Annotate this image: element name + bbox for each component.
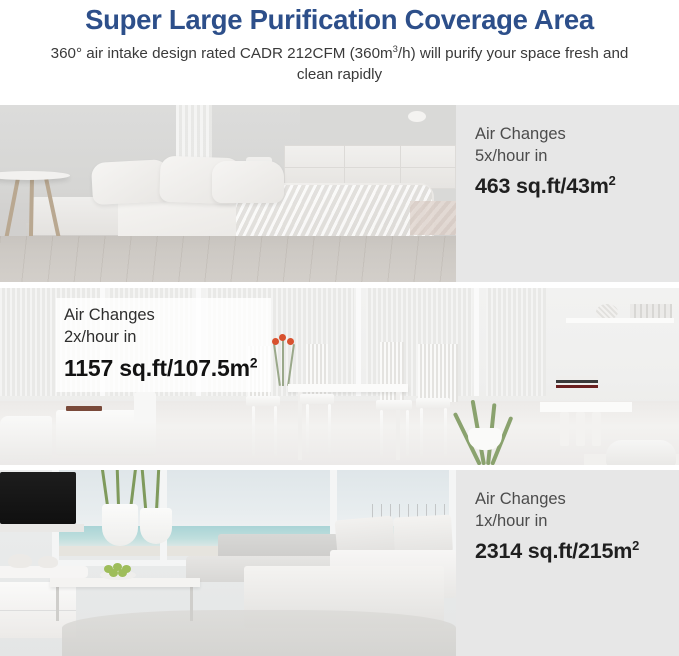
dining-chair-back bbox=[418, 344, 440, 402]
area-rug bbox=[62, 610, 456, 656]
air-changes-label: Air Changes bbox=[64, 304, 257, 326]
chair-leg bbox=[420, 408, 423, 456]
cabinet-divider bbox=[0, 610, 76, 611]
air-changes-label: Air Changes bbox=[475, 488, 679, 510]
scene-bedroom bbox=[0, 105, 456, 282]
flower-stem bbox=[282, 340, 284, 386]
dining-chair-back bbox=[380, 342, 404, 406]
coverage-panel-bedroom: Air Changes 5x/hour in 463 sq.ft/43m2 bbox=[0, 105, 679, 282]
chair-leg bbox=[274, 406, 277, 456]
window-mullion bbox=[474, 288, 479, 396]
fruit bbox=[118, 569, 127, 577]
coffee-table-leg bbox=[190, 587, 193, 621]
decor-bowl bbox=[38, 556, 58, 568]
chair-leg bbox=[380, 410, 383, 456]
bedroom-lamp bbox=[408, 111, 426, 122]
decor-books bbox=[556, 376, 598, 388]
coverage-area-value: 1157 sq.ft/107.5m2 bbox=[64, 355, 257, 382]
stool-leg bbox=[560, 412, 569, 446]
chair-leg bbox=[406, 410, 409, 456]
flower bbox=[287, 338, 294, 345]
bedroom-rug bbox=[410, 201, 456, 235]
dining-chair-seat bbox=[376, 400, 412, 410]
bedroom-floor-planks bbox=[0, 236, 456, 282]
chair-leg bbox=[306, 404, 309, 454]
television bbox=[0, 472, 76, 524]
decor-bowl bbox=[8, 554, 32, 568]
air-changes-label: Air Changes bbox=[475, 123, 679, 145]
stool-leg bbox=[576, 412, 585, 446]
page-subtitle: 360° air intake design rated CADR 212CFM… bbox=[16, 43, 664, 86]
coverage-area-superscript: 2 bbox=[250, 355, 257, 370]
dining-chair-seat bbox=[300, 394, 334, 404]
coverage-panel-dining-living: Air Changes 2x/hour in 1157 sq.ft/107.5m… bbox=[0, 288, 679, 465]
fruit bbox=[109, 569, 118, 577]
coverage-area-superscript: 2 bbox=[609, 173, 616, 188]
window bbox=[486, 288, 546, 396]
air-changes-rate: 5x/hour in bbox=[475, 145, 679, 167]
plant-vase bbox=[140, 508, 172, 544]
header: Super Large Purification Coverage Area 3… bbox=[0, 0, 679, 86]
stool-leg bbox=[592, 412, 601, 446]
dresser-divider bbox=[284, 167, 456, 168]
wall-shelf bbox=[566, 318, 674, 323]
sofa-cushion bbox=[134, 392, 156, 422]
palm-pot bbox=[468, 428, 502, 450]
tv-stand bbox=[0, 524, 84, 532]
page-title: Super Large Purification Coverage Area bbox=[0, 4, 679, 36]
coverage-area-superscript: 2 bbox=[632, 538, 639, 553]
coverage-text-panel: Air Changes 1x/hour in 2314 sq.ft/215m2 bbox=[456, 470, 679, 656]
floor-cushions bbox=[606, 440, 676, 465]
window-mullion bbox=[356, 288, 361, 396]
chair-leg bbox=[252, 406, 255, 456]
dining-chair-seat bbox=[246, 396, 280, 406]
flower bbox=[272, 338, 279, 345]
scene-beach-living-room bbox=[0, 470, 456, 656]
coffee-table-leg bbox=[56, 587, 59, 621]
coverage-text-panel: Air Changes 5x/hour in 463 sq.ft/43m2 bbox=[456, 105, 679, 282]
subtitle-text-part1: 360° air intake design rated CADR 212CFM… bbox=[51, 45, 393, 62]
coverage-text-overlay: Air Changes 2x/hour in 1157 sq.ft/107.5m… bbox=[56, 298, 271, 392]
flower bbox=[279, 334, 286, 341]
coverage-area-value: 463 sq.ft/43m2 bbox=[475, 174, 679, 199]
coverage-area-text: 1157 sq.ft/107.5m bbox=[64, 355, 250, 381]
air-changes-rate: 2x/hour in bbox=[64, 326, 257, 348]
coverage-area-text: 463 sq.ft/43m bbox=[475, 174, 609, 198]
coffee-table-book bbox=[66, 406, 102, 411]
dining-chair-seat bbox=[416, 398, 450, 408]
coverage-area-value: 2314 sq.ft/215m2 bbox=[475, 539, 679, 564]
coverage-panel-beach-living: Air Changes 1x/hour in 2314 sq.ft/215m2 bbox=[0, 470, 679, 656]
side-counter bbox=[540, 402, 632, 412]
air-changes-rate: 1x/hour in bbox=[475, 510, 679, 532]
chair-leg bbox=[328, 404, 331, 454]
coverage-area-text: 2314 sq.ft/215m bbox=[475, 539, 632, 563]
dining-chair-back bbox=[438, 344, 458, 402]
sofa-arm bbox=[0, 416, 52, 460]
dining-table bbox=[288, 384, 408, 392]
plant-vase bbox=[102, 504, 138, 546]
chair-leg bbox=[444, 408, 447, 456]
bed-pillow bbox=[212, 161, 284, 203]
